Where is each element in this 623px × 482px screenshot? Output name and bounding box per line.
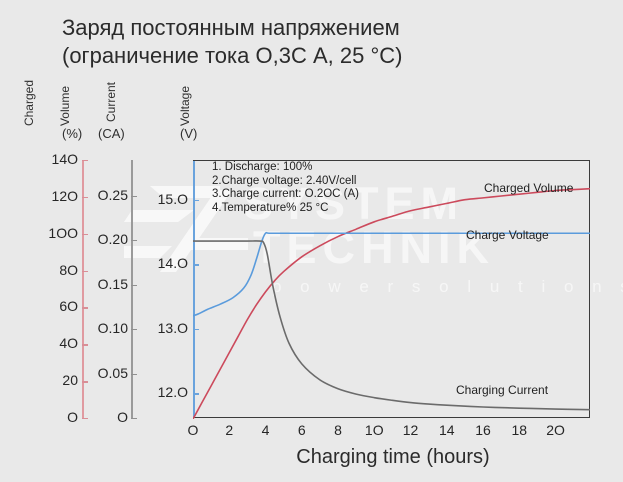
x-tick-label: 4 [251, 422, 281, 438]
y-tick-label: 14O [24, 151, 78, 167]
axis-caption-charged: Charged [22, 80, 36, 126]
annotation-line: 1. Discharge: 100% [212, 161, 442, 175]
chart-title-line2: (ограничение тока О,3С А, 25 °C) [62, 42, 562, 70]
annotation-line: 4.Temperature% 25 °C [212, 202, 442, 216]
chart-title: Заряд постоянным напряжением (ограничени… [62, 14, 562, 70]
y-tick-label: 12O [24, 188, 78, 204]
axis-caption-voltage: Voltage [178, 86, 192, 126]
annotation-line: 2.Charge voltage: 2.40V/cell [212, 175, 442, 189]
annotation-notes: 1. Discharge: 100%2.Charge voltage: 2.40… [212, 161, 442, 215]
x-tick-label: O [178, 422, 208, 438]
x-tick-label: 1O [359, 422, 389, 438]
y-tick-mark [131, 240, 137, 241]
x-tick-label: 16 [468, 422, 498, 438]
x-axis-label: Charging time (hours) [193, 446, 593, 469]
x-tick-label: 2O [541, 422, 571, 438]
y-tick-label: 15.O [136, 191, 188, 207]
y-tick-label: 4O [24, 335, 78, 351]
x-axis-ticks: O24681O121416182O [193, 422, 593, 442]
y-tick-mark [82, 381, 88, 382]
x-tick-label: 8 [323, 422, 353, 438]
y-tick-label: 8O [24, 262, 78, 278]
y-tick-label: O [24, 409, 78, 425]
y-tick-label: 20 [24, 372, 78, 388]
axis-unit-v: (V) [180, 126, 197, 141]
curve-label-charge-voltage: Charge Voltage [466, 228, 549, 242]
annotation-line: 3.Charge current: O.2OC (A) [212, 188, 442, 202]
y-tick-mark [82, 344, 88, 345]
y-tick-label: O [82, 409, 128, 425]
y-tick-label: 14.O [136, 255, 188, 271]
chart-title-line1: Заряд постоянным напряжением [62, 14, 562, 42]
x-tick-label: 12 [396, 422, 426, 438]
axis-unit-ca: (CA) [98, 126, 125, 141]
x-tick-label: 2 [214, 422, 244, 438]
y-tick-label: O.25 [82, 187, 128, 203]
y-tick-label: 13.O [136, 320, 188, 336]
y-tick-mark [131, 374, 137, 375]
axis-unit-percent: (%) [62, 126, 82, 141]
y-tick-label: O.10 [82, 320, 128, 336]
x-tick-label: 6 [287, 422, 317, 438]
y-tick-label: 6O [24, 298, 78, 314]
curve-label-charged-volume: Charged Volume [484, 181, 573, 195]
chart-canvas: SYSTEM TECHNIK p o w e r s o l u t i o n… [0, 0, 623, 482]
y-tick-mark [131, 285, 137, 286]
y-tick-mark [82, 160, 88, 161]
y-tick-label: 12.O [136, 384, 188, 400]
x-tick-label: 14 [432, 422, 462, 438]
axis-caption-volume: Volume [58, 86, 72, 126]
curve-label-charging-current: Charging Current [456, 383, 548, 397]
y-tick-mark [131, 418, 137, 419]
y-tick-label: O.15 [82, 276, 128, 292]
y-tick-label: O.20 [82, 231, 128, 247]
curve-charge-voltage [193, 233, 590, 316]
axis-caption-current: Current [104, 82, 118, 122]
x-tick-label: 18 [504, 422, 534, 438]
y-tick-mark [82, 307, 88, 308]
y-tick-label: O.05 [82, 365, 128, 381]
y-tick-label: 1OO [24, 225, 78, 241]
y-tick-mark [82, 271, 88, 272]
axis-spine-current [131, 160, 133, 418]
